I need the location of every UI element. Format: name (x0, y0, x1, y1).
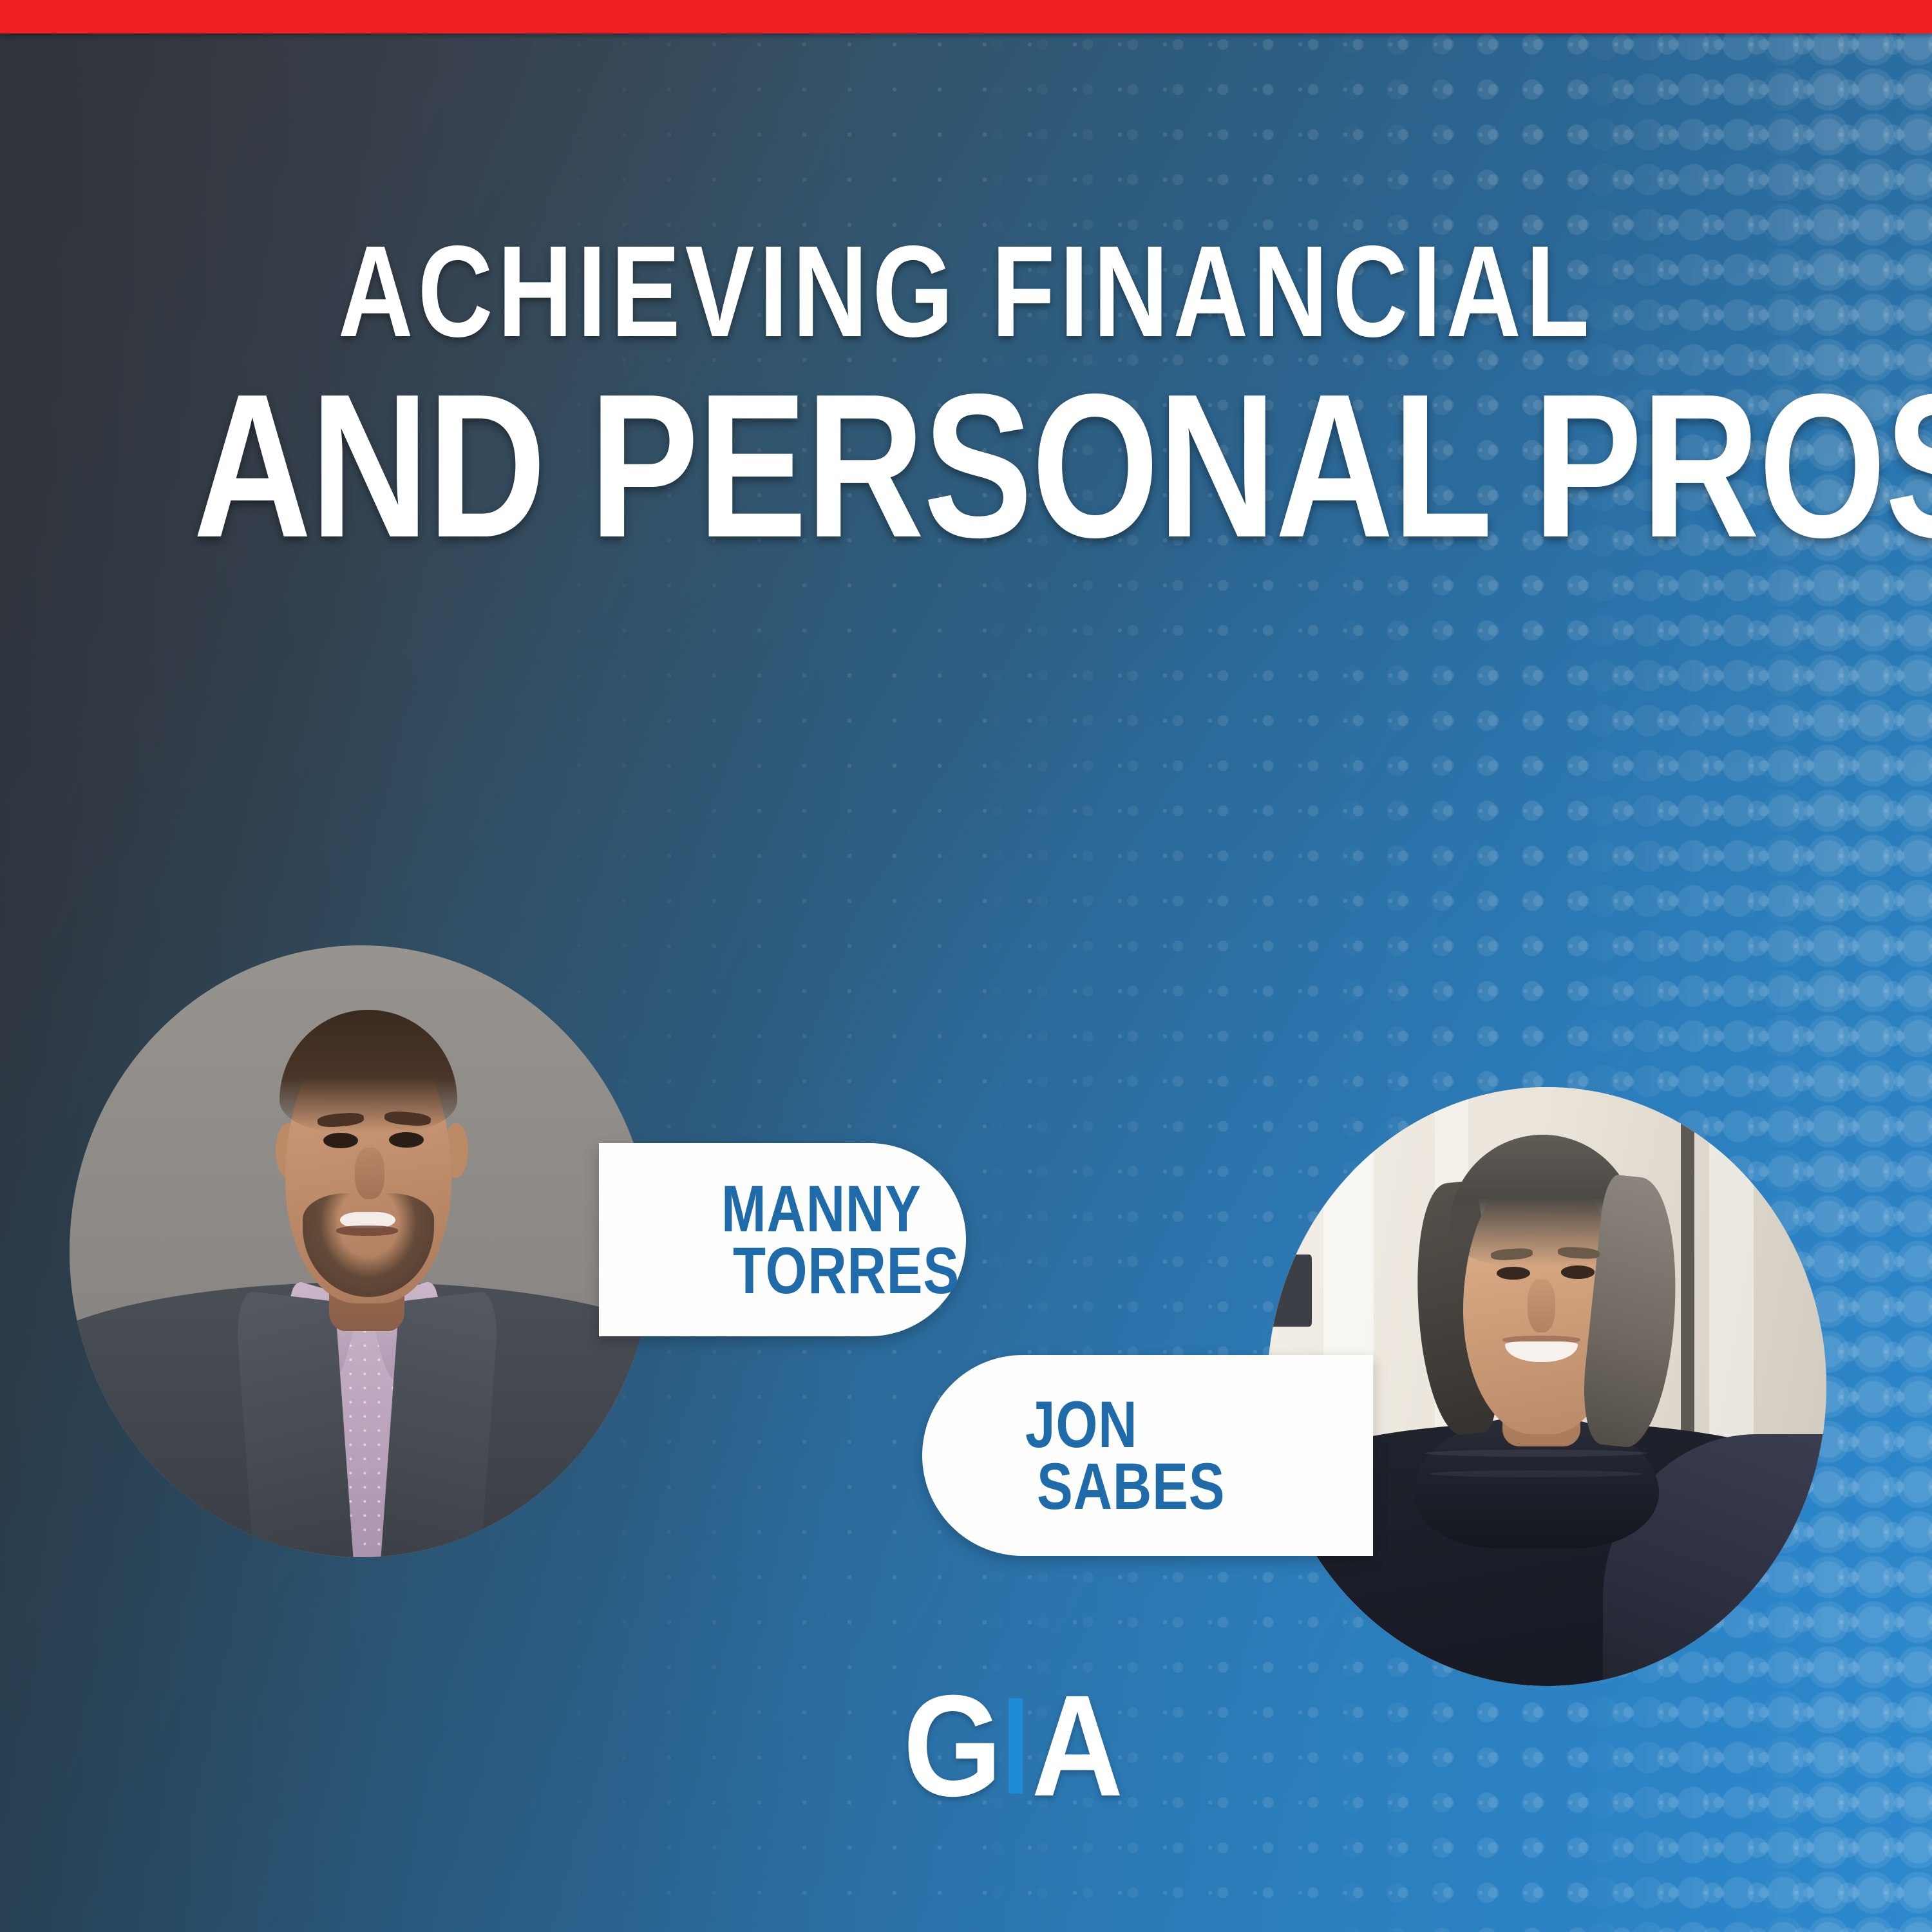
background-fixture (1267, 1255, 1312, 1327)
portrait-scene-left (70, 945, 652, 1557)
logo-letter-a: A (1032, 1681, 1123, 1810)
speaker-first-name: JON (1025, 1394, 1225, 1455)
speaker-name-pill-jon-sabes: JON SABES (922, 1355, 1373, 1556)
eye-right (1561, 1265, 1595, 1278)
logo-letter-g: G (903, 1681, 1001, 1810)
speaker-name-manny-torres: MANNY TORRES (721, 1178, 960, 1302)
suit-lapel-right (379, 1289, 500, 1557)
lower-lip (336, 1226, 398, 1236)
brand-logo: G A (896, 1678, 1130, 1814)
nose (355, 1148, 384, 1200)
eye-left (323, 1133, 358, 1149)
speaker-last-name: SABES (1025, 1455, 1225, 1517)
speaker-name-pill-manny-torres: MANNY TORRES (599, 1143, 966, 1336)
logo-divider-bar-icon (1009, 1698, 1023, 1794)
speaker-photo-manny-torres (70, 945, 652, 1557)
podcast-cover-artwork: ACHIEVING FINANCIAL AND PERSONAL PROSPER… (0, 0, 1932, 1932)
speaker-name-jon-sabes: JON SABES (1025, 1394, 1225, 1517)
suit-lapel-left (234, 1289, 354, 1557)
speaker-last-name: TORRES (721, 1240, 960, 1302)
top-accent-bar (0, 0, 1932, 33)
speaker-first-name: MANNY (721, 1178, 960, 1240)
turtleneck-fold-1 (1424, 1450, 1647, 1457)
nose (1528, 1279, 1555, 1333)
